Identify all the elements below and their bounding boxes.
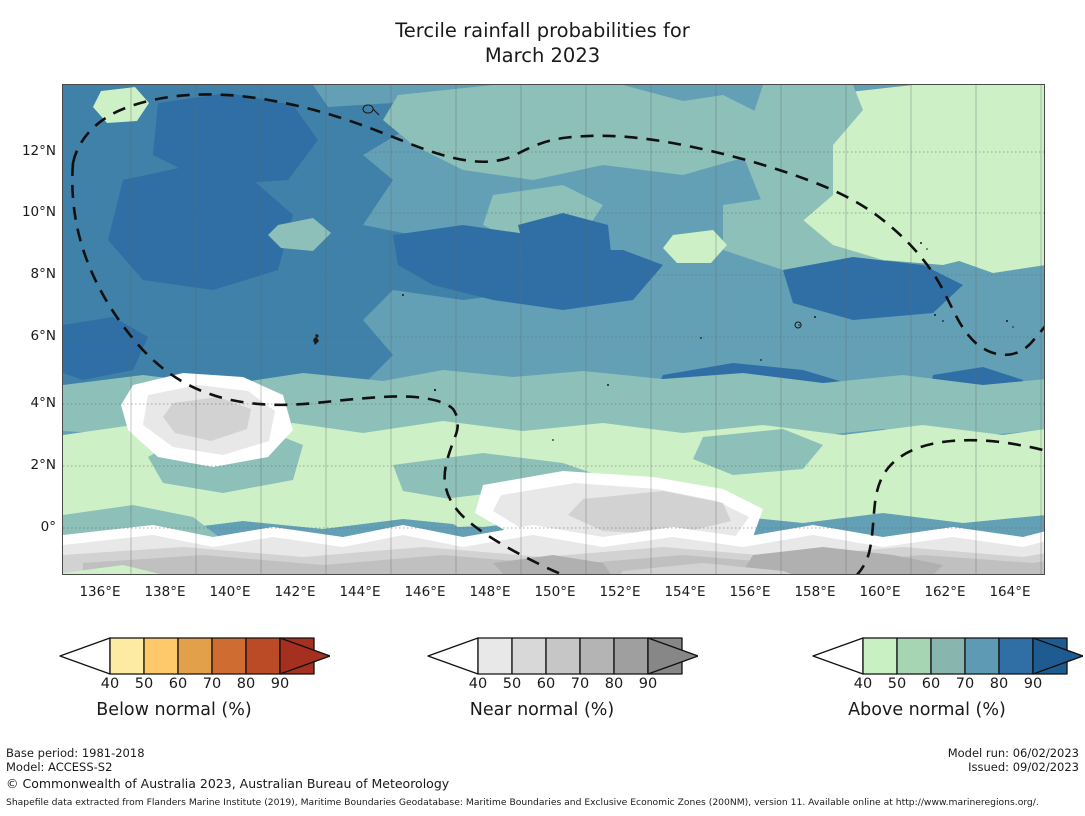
colorbar-near-normal-strip[interactable] [386,636,698,676]
y-axis-tick-label: 12°N [22,143,56,159]
footer-right-block: Model run: 06/02/2023 Issued: 09/02/2023 [948,747,1079,774]
y-axis-tick-label: 6°N [31,328,56,344]
x-axis-tick-label: 148°E [469,584,510,600]
x-axis-tick-label: 144°E [339,584,380,600]
base-period-text: Base period: 1981-2018 [6,747,145,761]
colorbar-below-ticks: 40 50 60 70 80 90 [18,676,330,696]
colorbar-below-tick: 60 [169,676,187,692]
colorbar-above-tick: 50 [888,676,906,692]
colorbar-near-under-arrow [428,638,478,674]
y-axis-tick-label: 4°N [31,395,56,411]
page-title: Tercile rainfall probabilities for March… [0,18,1085,68]
colorbar-below-tick: 90 [271,676,289,692]
issued-text: Issued: 09/02/2023 [948,761,1079,775]
colorbar-below-tick: 80 [237,676,255,692]
x-axis-tick-label: 156°E [729,584,770,600]
colorbar-above-caption: Above normal (%) [771,700,1083,720]
colorbar-above-normal[interactable]: 40 50 60 70 80 90 Above normal (%) [757,636,1085,720]
colorbar-near-tick: 90 [639,676,657,692]
colorbar-below-tick: 40 [101,676,119,692]
y-axis-tick-label: 0° [41,519,56,535]
colorbar-near-tick: 50 [503,676,521,692]
copyright-text: © Commonwealth of Australia 2023, Austra… [6,776,449,791]
y-axis-tick-label: 2°N [31,457,56,473]
colorbar-near-tick: 70 [571,676,589,692]
x-axis-tick-label: 138°E [144,584,185,600]
colorbar-below-normal-strip[interactable] [18,636,330,676]
colorbar-below-normal[interactable]: 40 50 60 70 80 90 Below normal (%) [4,636,344,720]
colorbar-near-ticks: 40 50 60 70 80 90 [386,676,698,696]
colorbar-above-tick: 80 [990,676,1008,692]
colorbar-above-tick: 60 [922,676,940,692]
colorbar-above-tick: 70 [956,676,974,692]
tercile-probability-map [63,85,1045,575]
x-axis-tick-label: 164°E [989,584,1030,600]
page-title-line2: March 2023 [0,43,1085,68]
x-axis-tick-label: 136°E [79,584,120,600]
x-axis-tick-label: 162°E [924,584,965,600]
colorbar-below-tick: 50 [135,676,153,692]
x-axis-tick-label: 154°E [664,584,705,600]
x-axis-tick-label: 146°E [404,584,445,600]
colorbar-above-ticks: 40 50 60 70 80 90 [771,676,1083,696]
y-axis-tick-label: 10°N [22,204,56,220]
colorbar-above-tick: 40 [854,676,872,692]
colorbar-below-caption: Below normal (%) [18,700,330,720]
map-plot-area[interactable] [62,84,1045,575]
x-axis-tick-label: 142°E [274,584,315,600]
x-axis-tick-label: 160°E [859,584,900,600]
colorbar-above-under-arrow [813,638,863,674]
colorbar-near-normal[interactable]: 40 50 60 70 80 90 Near normal (%) [372,636,712,720]
attribution-text: Shapefile data extracted from Flanders M… [6,797,1039,808]
x-axis-tick-label: 158°E [794,584,835,600]
page-title-line1: Tercile rainfall probabilities for [0,18,1085,43]
model-text: Model: ACCESS-S2 [6,761,145,775]
x-axis-tick-label: 152°E [599,584,640,600]
colorbar-near-tick: 60 [537,676,555,692]
colorbar-near-caption: Near normal (%) [386,700,698,720]
colorbar-above-tick: 90 [1024,676,1042,692]
x-axis-tick-label: 140°E [209,584,250,600]
x-axis-tick-label: 150°E [534,584,575,600]
model-run-text: Model run: 06/02/2023 [948,747,1079,761]
y-axis-tick-label: 8°N [31,266,56,282]
colorbar-near-tick: 80 [605,676,623,692]
colorbar-near-tick: 40 [469,676,487,692]
colorbar-below-tick: 70 [203,676,221,692]
colorbar-below-under-arrow [60,638,110,674]
footer-left-block: Base period: 1981-2018 Model: ACCESS-S2 [6,747,145,774]
colorbar-above-normal-strip[interactable] [771,636,1083,676]
